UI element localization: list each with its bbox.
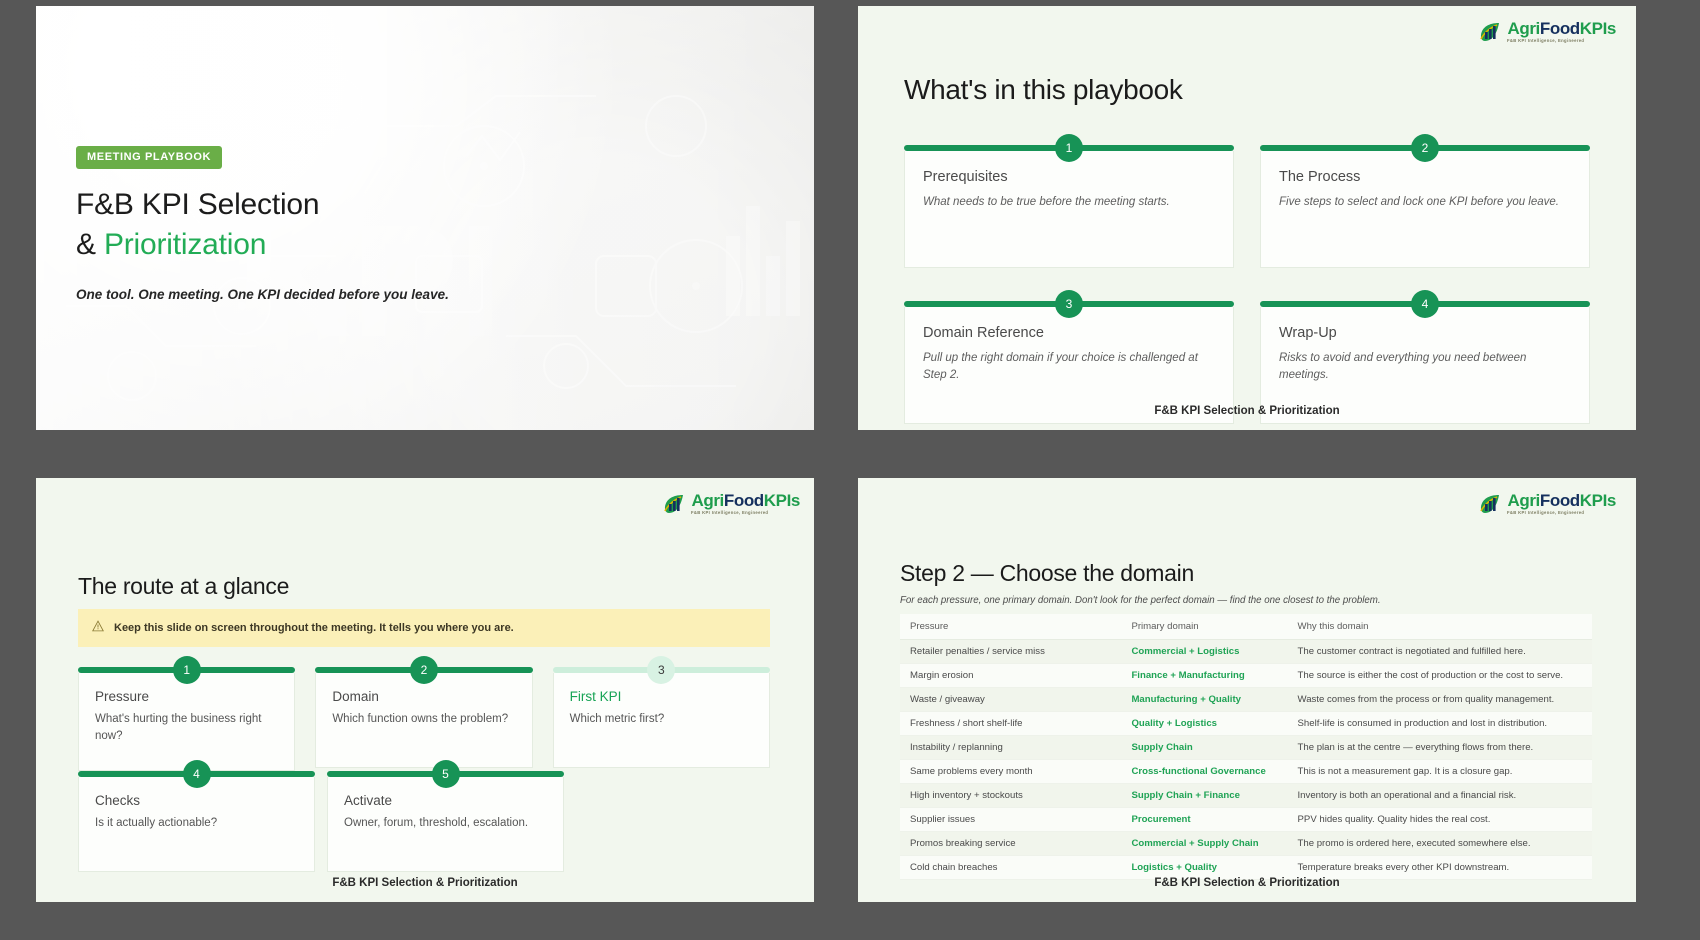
cell-why: PPV hides quality. Quality hides the rea… [1288, 808, 1592, 832]
playbook-card-1[interactable]: 1 Prerequisites What needs to be true be… [904, 134, 1234, 268]
slide-step2-choose-the-domain[interactable]: AgriFoodKPIs F&B KPI Intelligence, Engin… [858, 478, 1636, 902]
card-heading: Domain Reference [923, 325, 1215, 341]
step-panel: Checks Is it actually actionable? [78, 777, 315, 872]
cell-why: The source is either the cost of product… [1288, 664, 1592, 688]
cell-why: Inventory is both an operational and a f… [1288, 784, 1592, 808]
slide2-title: What's in this playbook [904, 74, 1183, 106]
title-line-2-accent: Prioritization [104, 228, 266, 261]
cell-pressure: Freshness / short shelf-life [900, 712, 1121, 736]
route-step-4[interactable]: 4 Checks Is it actually actionable? [78, 760, 315, 872]
step-panel: Domain Which function owns the problem? [315, 673, 532, 768]
step-number: 3 [647, 656, 675, 684]
domain-reference-table: Pressure Primary domain Why this domain … [900, 614, 1592, 880]
cell-pressure: High inventory + stockouts [900, 784, 1121, 808]
table-body: Retailer penalties / service miss Commer… [900, 640, 1592, 880]
table-row[interactable]: Supplier issues Procurement PPV hides qu… [900, 808, 1592, 832]
cell-why: This is not a measurement gap. It is a c… [1288, 760, 1592, 784]
step-description: What's hurting the business right now? [95, 711, 278, 744]
step-description: Is it actually actionable? [95, 815, 298, 832]
slide3-title: The route at a glance [78, 573, 289, 600]
cell-why: The customer contract is negotiated and … [1288, 640, 1592, 664]
step-bar: 5 [327, 771, 564, 777]
cell-domain: Commercial + Supply Chain [1121, 832, 1287, 856]
step-heading: Activate [344, 793, 547, 808]
step-description: Owner, forum, threshold, escalation. [344, 815, 547, 832]
table-row[interactable]: Waste / giveaway Manufacturing + Quality… [900, 688, 1592, 712]
card-panel: The Process Five steps to select and loc… [1260, 151, 1590, 268]
step-number: 5 [432, 760, 460, 788]
column-header-primary-domain: Primary domain [1121, 614, 1287, 640]
cell-domain: Quality + Logistics [1121, 712, 1287, 736]
title-line-2-prefix: & [76, 228, 104, 261]
logo-tagline: F&B KPI Intelligence, Engineered [1507, 39, 1618, 43]
cell-pressure: Same problems every month [900, 760, 1121, 784]
route-steps-row-2: 4 Checks Is it actually actionable? 5 Ac… [78, 760, 564, 872]
step-number: 2 [410, 656, 438, 684]
card-description: Pull up the right domain if your choice … [923, 350, 1215, 383]
meeting-reminder-callout: Keep this slide on screen throughout the… [78, 609, 770, 647]
leaf-chart-logo-icon [1478, 492, 1502, 516]
cell-pressure: Retailer penalties / service miss [900, 640, 1121, 664]
route-step-2[interactable]: 2 Domain Which function owns the problem… [315, 656, 532, 771]
column-header-why-this-domain: Why this domain [1288, 614, 1592, 640]
agrifoodkpis-logo: AgriFoodKPIs F&B KPI Intelligence, Engin… [1478, 492, 1616, 516]
slide2-footer: F&B KPI Selection & Prioritization [858, 405, 1636, 417]
callout-text: Keep this slide on screen throughout the… [114, 622, 514, 634]
playbook-card-2[interactable]: 2 The Process Five steps to select and l… [1260, 134, 1590, 268]
step-description: Which function owns the problem? [332, 711, 515, 728]
table-row[interactable]: Same problems every month Cross-function… [900, 760, 1592, 784]
card-bar: 3 [904, 301, 1234, 307]
table-row[interactable]: Retailer penalties / service miss Commer… [900, 640, 1592, 664]
logo-word-food: Food [724, 491, 764, 510]
card-heading: Wrap-Up [1279, 325, 1571, 341]
step-panel: First KPI Which metric first? [553, 673, 770, 768]
slide3-footer: F&B KPI Selection & Prioritization [36, 877, 814, 889]
cell-domain: Supply Chain [1121, 736, 1287, 760]
cell-why: Temperature breaks every other KPI downs… [1288, 856, 1592, 880]
playbook-card-4[interactable]: 4 Wrap-Up Risks to avoid and everything … [1260, 290, 1590, 424]
step-number: 4 [183, 760, 211, 788]
cell-why: The promo is ordered here, executed some… [1288, 832, 1592, 856]
route-step-5[interactable]: 5 Activate Owner, forum, threshold, esca… [327, 760, 564, 872]
playbook-card-3[interactable]: 3 Domain Reference Pull up the right dom… [904, 290, 1234, 424]
playbook-section-grid: 1 Prerequisites What needs to be true be… [904, 134, 1590, 424]
step-heading: Domain [332, 689, 515, 704]
logo-word-kpis: KPIs [764, 491, 800, 510]
cell-pressure: Waste / giveaway [900, 688, 1121, 712]
cell-domain: Procurement [1121, 808, 1287, 832]
step-bar: 1 [78, 667, 295, 673]
logo-word-agri: Agri [691, 491, 723, 510]
slide4-title: Step 2 — Choose the domain [900, 560, 1194, 587]
cell-pressure: Instability / replanning [900, 736, 1121, 760]
cell-domain: Cross-functional Governance [1121, 760, 1287, 784]
table-header-row: Pressure Primary domain Why this domain [900, 614, 1592, 640]
step-bar: 2 [315, 667, 532, 673]
cell-domain: Manufacturing + Quality [1121, 688, 1287, 712]
card-number: 1 [1055, 134, 1083, 162]
logo-word-kpis: KPIs [1580, 19, 1616, 38]
route-steps-row-1: 1 Pressure What's hurting the business r… [78, 656, 770, 771]
warning-triangle-icon [92, 619, 104, 637]
cell-why: The plan is at the centre — everything f… [1288, 736, 1592, 760]
table-row[interactable]: Cold chain breaches Logistics + Quality … [900, 856, 1592, 880]
card-heading: Prerequisites [923, 169, 1215, 185]
card-heading: The Process [1279, 169, 1571, 185]
logo-tagline: F&B KPI Intelligence, Engineered [691, 511, 802, 515]
leaf-chart-logo-icon [1478, 20, 1502, 44]
cell-why: Waste comes from the process or from qua… [1288, 688, 1592, 712]
card-description: What needs to be true before the meeting… [923, 194, 1215, 211]
logo-tagline: F&B KPI Intelligence, Engineered [1507, 511, 1618, 515]
logo-word-agri: Agri [1507, 19, 1539, 38]
cell-pressure: Supplier issues [900, 808, 1121, 832]
step-bar: 4 [78, 771, 315, 777]
domain-reference-table-wrapper: Pressure Primary domain Why this domain … [900, 614, 1592, 880]
table-row[interactable]: Freshness / short shelf-life Quality + L… [900, 712, 1592, 736]
step-description: Which metric first? [570, 711, 753, 728]
table-row[interactable]: Margin erosion Finance + Manufacturing T… [900, 664, 1592, 688]
logo-word-agri: Agri [1507, 491, 1539, 510]
agrifoodkpis-logo: AgriFoodKPIs F&B KPI Intelligence, Engin… [1478, 20, 1616, 44]
step-heading: Pressure [95, 689, 278, 704]
meeting-playbook-badge: MEETING PLAYBOOK [76, 146, 222, 169]
cell-why: Shelf-life is consumed in production and… [1288, 712, 1592, 736]
card-number: 2 [1411, 134, 1439, 162]
logo-word-food: Food [1540, 491, 1580, 510]
table-row[interactable]: High inventory + stockouts Supply Chain … [900, 784, 1592, 808]
slide-whats-in-this-playbook[interactable]: AgriFoodKPIs F&B KPI Intelligence, Engin… [858, 6, 1636, 430]
slide-deck: KPI MEETING PLAYBOOK F&B KPI Selection &… [0, 0, 1700, 940]
cell-pressure: Promos breaking service [900, 832, 1121, 856]
logo-word-kpis: KPIs [1580, 491, 1616, 510]
card-description: Risks to avoid and everything you need b… [1279, 350, 1571, 383]
step-heading: Checks [95, 793, 298, 808]
step-number: 1 [173, 656, 201, 684]
card-bar: 2 [1260, 145, 1590, 151]
route-step-3[interactable]: 3 First KPI Which metric first? [553, 656, 770, 771]
column-header-pressure: Pressure [900, 614, 1121, 640]
page-title: F&B KPI Selection & Prioritization [76, 185, 774, 265]
cell-domain: Commercial + Logistics [1121, 640, 1287, 664]
card-number: 4 [1411, 290, 1439, 318]
leaf-chart-logo-icon [662, 492, 686, 516]
step-heading: First KPI [570, 689, 753, 704]
slide4-lede: For each pressure, one primary domain. D… [900, 595, 1592, 606]
card-number: 3 [1055, 290, 1083, 318]
card-bar: 1 [904, 145, 1234, 151]
step-bar: 3 [553, 667, 770, 673]
step-panel: Activate Owner, forum, threshold, escala… [327, 777, 564, 872]
table-row[interactable]: Instability / replanning Supply Chain Th… [900, 736, 1592, 760]
slide-title[interactable]: KPI MEETING PLAYBOOK F&B KPI Selection &… [36, 6, 814, 430]
cell-domain: Supply Chain + Finance [1121, 784, 1287, 808]
title-line-1: F&B KPI Selection [76, 188, 319, 221]
agrifoodkpis-logo: AgriFoodKPIs F&B KPI Intelligence, Engin… [662, 492, 800, 516]
table-row[interactable]: Promos breaking service Commercial + Sup… [900, 832, 1592, 856]
title-tagline: One tool. One meeting. One KPI decided b… [76, 287, 774, 302]
cell-pressure: Cold chain breaches [900, 856, 1121, 880]
card-bar: 4 [1260, 301, 1590, 307]
step-panel: Pressure What's hurting the business rig… [78, 673, 295, 771]
slide4-footer: F&B KPI Selection & Prioritization [858, 877, 1636, 889]
card-panel: Prerequisites What needs to be true befo… [904, 151, 1234, 268]
route-step-1[interactable]: 1 Pressure What's hurting the business r… [78, 656, 295, 771]
cell-domain: Logistics + Quality [1121, 856, 1287, 880]
cell-pressure: Margin erosion [900, 664, 1121, 688]
slide-route-at-a-glance[interactable]: AgriFoodKPIs F&B KPI Intelligence, Engin… [36, 478, 814, 902]
logo-word-food: Food [1540, 19, 1580, 38]
cell-domain: Finance + Manufacturing [1121, 664, 1287, 688]
card-description: Five steps to select and lock one KPI be… [1279, 194, 1571, 211]
